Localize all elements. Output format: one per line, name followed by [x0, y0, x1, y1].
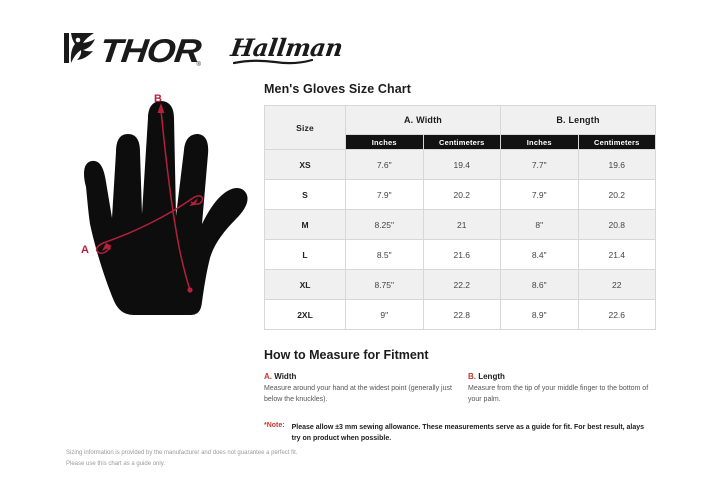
column-header-length: B. Length [501, 106, 656, 135]
cell-width-centimeters: 21 [423, 210, 501, 240]
measure-width-block: A. Width Measure around your hand at the… [264, 372, 468, 406]
table-row: S 7.9" 20.2 7.9" 20.2 [265, 180, 656, 210]
hallman-logo: Hallman [231, 36, 342, 65]
measure-length-name: Length [476, 372, 505, 381]
cell-width-centimeters: 21.6 [423, 240, 501, 270]
measure-width-body: Measure around your hand at the widest p… [264, 384, 454, 406]
table-row: XL 8.75" 22.2 8.6" 22 [265, 270, 656, 300]
cell-width-inches: 7.9" [346, 180, 424, 210]
cell-length-centimeters: 22.6 [578, 300, 656, 330]
cell-length-inches: 8.4" [501, 240, 579, 270]
measure-length-block: B. Length Measure from the tip of your m… [468, 372, 656, 406]
note-row: *Note: Please allow ±3 mm sewing allowan… [264, 422, 656, 444]
cell-width-centimeters: 19.4 [423, 150, 501, 180]
table-row: M 8.25" 21 8" 20.8 [265, 210, 656, 240]
disclaimer-line-2: Please use this chart as a guide only. [66, 459, 297, 470]
glove-hand-silhouette-icon [84, 101, 248, 315]
cell-length-inches: 8.9" [501, 300, 579, 330]
cell-size: L [265, 240, 346, 270]
measure-width-heading: A. Width [264, 372, 454, 381]
brand-logo-bar: THOR ® Hallman [64, 30, 342, 71]
cell-length-centimeters: 22 [578, 270, 656, 300]
cell-width-centimeters: 22.2 [423, 270, 501, 300]
size-chart-page: THOR ® Hallman B [0, 0, 720, 492]
table-header-group-row: Size A. Width B. Length [265, 106, 656, 135]
table-row: 2XL 9" 22.8 8.9" 22.6 [265, 300, 656, 330]
thor-wordmark: THOR [98, 34, 202, 67]
cell-length-centimeters: 19.6 [578, 150, 656, 180]
disclaimer-line-1: Sizing information is provided by the ma… [66, 448, 297, 459]
cell-size: S [265, 180, 346, 210]
column-header-width: A. Width [346, 106, 501, 135]
how-to-measure-columns: A. Width Measure around your hand at the… [264, 372, 656, 406]
measure-width-tag: A. [264, 372, 272, 381]
cell-length-centimeters: 21.4 [578, 240, 656, 270]
size-chart-table: Size A. Width B. Length Inches Centimete… [264, 105, 656, 330]
glove-label-a: A [81, 244, 89, 256]
cell-width-inches: 8.5" [346, 240, 424, 270]
hallman-wordmark: Hallman [229, 36, 344, 60]
measure-width-name: Width [272, 372, 296, 381]
cell-width-inches: 9" [346, 300, 424, 330]
how-to-measure-title: How to Measure for Fitment [264, 348, 656, 362]
glove-label-b: B [154, 93, 162, 105]
table-row: L 8.5" 21.6 8.4" 21.4 [265, 240, 656, 270]
unit-header-length-centimeters: Centimeters [578, 135, 656, 150]
unit-header-width-centimeters: Centimeters [423, 135, 501, 150]
cell-size: M [265, 210, 346, 240]
disclaimer-footer: Sizing information is provided by the ma… [66, 448, 297, 470]
table-row: XS 7.6" 19.4 7.7" 19.6 [265, 150, 656, 180]
cell-length-inches: 8.6" [501, 270, 579, 300]
note-text: Please allow ±3 mm sewing allowance. The… [292, 422, 647, 444]
page-title: Men's Gloves Size Chart [264, 82, 656, 96]
cell-length-inches: 7.9" [501, 180, 579, 210]
cell-width-inches: 7.6" [346, 150, 424, 180]
cell-length-inches: 8" [501, 210, 579, 240]
measure-length-tag: B. [468, 372, 476, 381]
cell-size: 2XL [265, 300, 346, 330]
glove-measurement-diagram: B A [62, 92, 267, 317]
cell-size: XL [265, 270, 346, 300]
cell-length-centimeters: 20.2 [578, 180, 656, 210]
column-header-size: Size [265, 106, 346, 150]
note-label: *Note: [264, 422, 285, 444]
script-swash-icon [233, 58, 313, 65]
cell-length-centimeters: 20.8 [578, 210, 656, 240]
measure-length-heading: B. Length [468, 372, 656, 381]
cell-width-centimeters: 20.2 [423, 180, 501, 210]
unit-header-width-inches: Inches [346, 135, 424, 150]
chart-column: Men's Gloves Size Chart Size A. Width B.… [264, 82, 656, 444]
cell-width-inches: 8.25" [346, 210, 424, 240]
thor-bird-mark-icon [64, 30, 98, 71]
cell-length-inches: 7.7" [501, 150, 579, 180]
measure-length-body: Measure from the tip of your middle fing… [468, 384, 656, 406]
unit-header-length-inches: Inches [501, 135, 579, 150]
thor-logo: THOR ® [64, 30, 201, 71]
cell-width-centimeters: 22.8 [423, 300, 501, 330]
cell-width-inches: 8.75" [346, 270, 424, 300]
cell-size: XS [265, 150, 346, 180]
